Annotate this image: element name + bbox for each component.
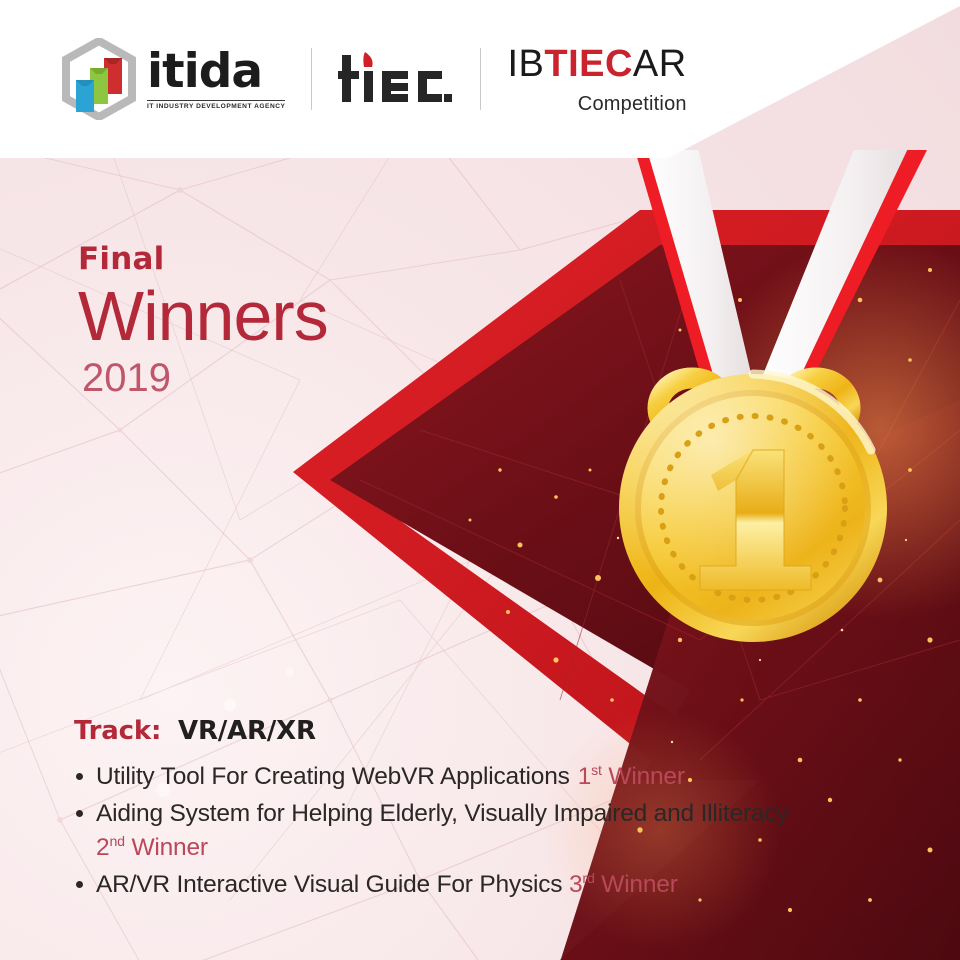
- list-item: Utility Tool For Creating WebVR Applicat…: [74, 760, 904, 793]
- ibtiecar-wordmark: IBTIECAR: [507, 45, 686, 83]
- ibtiecar-suffix: AR: [633, 43, 687, 85]
- track-label: Track:: [74, 716, 161, 746]
- rank-number: 1: [578, 763, 591, 790]
- itida-hexagon-icon: [60, 38, 138, 120]
- tiec-wordmark-icon: [338, 49, 454, 109]
- ibtiecar-highlight: TIEC: [544, 43, 633, 85]
- winners-list: Utility Tool For Creating WebVR Applicat…: [74, 760, 904, 901]
- ibtiecar-subtitle: Competition: [578, 94, 687, 114]
- itida-tagline: IT INDUSTRY DEVELOPMENT AGENCY: [147, 100, 285, 111]
- ibtiecar-prefix: IB: [507, 43, 544, 85]
- track-heading: Track: VR/AR/XR: [74, 716, 904, 746]
- tiec-logo[interactable]: [338, 49, 454, 109]
- itida-logo[interactable]: itida IT INDUSTRY DEVELOPMENT AGENCY: [60, 38, 285, 120]
- ibtiecar-logo[interactable]: IBTIECAR Competition: [507, 45, 686, 114]
- rank-suffix: st: [591, 763, 602, 779]
- track-value: VR/AR/XR: [178, 716, 316, 746]
- winner-rank: 2nd Winner: [96, 834, 208, 861]
- logo-divider-1: [311, 48, 312, 110]
- gold-medal-icon: [540, 150, 960, 670]
- header-logos: itida IT INDUSTRY DEVELOPMENT AGENCY: [0, 0, 700, 158]
- logo-divider-2: [480, 48, 481, 110]
- winner-project: Utility Tool For Creating WebVR Applicat…: [96, 763, 570, 790]
- headline-year: 2019: [82, 358, 328, 398]
- winner-project: AR/VR Interactive Visual Guide For Physi…: [96, 871, 562, 898]
- rank-number: 2: [96, 834, 109, 861]
- rank-word: Winner: [131, 834, 207, 861]
- list-item: AR/VR Interactive Visual Guide For Physi…: [74, 868, 904, 901]
- list-item: Aiding System for Helping Elderly, Visua…: [74, 797, 904, 864]
- itida-wordmark: itida: [147, 48, 285, 95]
- rank-number: 3: [569, 871, 582, 898]
- poster-canvas: itida IT INDUSTRY DEVELOPMENT AGENCY: [0, 0, 960, 960]
- rank-word: Winner: [608, 763, 684, 790]
- rank-word: Winner: [601, 871, 677, 898]
- winner-rank: 3rd Winner: [569, 871, 678, 898]
- rank-suffix: nd: [109, 833, 124, 849]
- headline-block: Final Winners 2019: [78, 244, 328, 398]
- headline-eyebrow: Final: [78, 244, 328, 275]
- rank-suffix: rd: [582, 871, 594, 887]
- winner-rank: 1st Winner: [578, 763, 685, 790]
- page-title: Winners: [78, 281, 328, 351]
- winner-project: Aiding System for Helping Elderly, Visua…: [96, 800, 788, 827]
- winners-section: Track: VR/AR/XR Utility Tool For Creatin…: [74, 716, 904, 905]
